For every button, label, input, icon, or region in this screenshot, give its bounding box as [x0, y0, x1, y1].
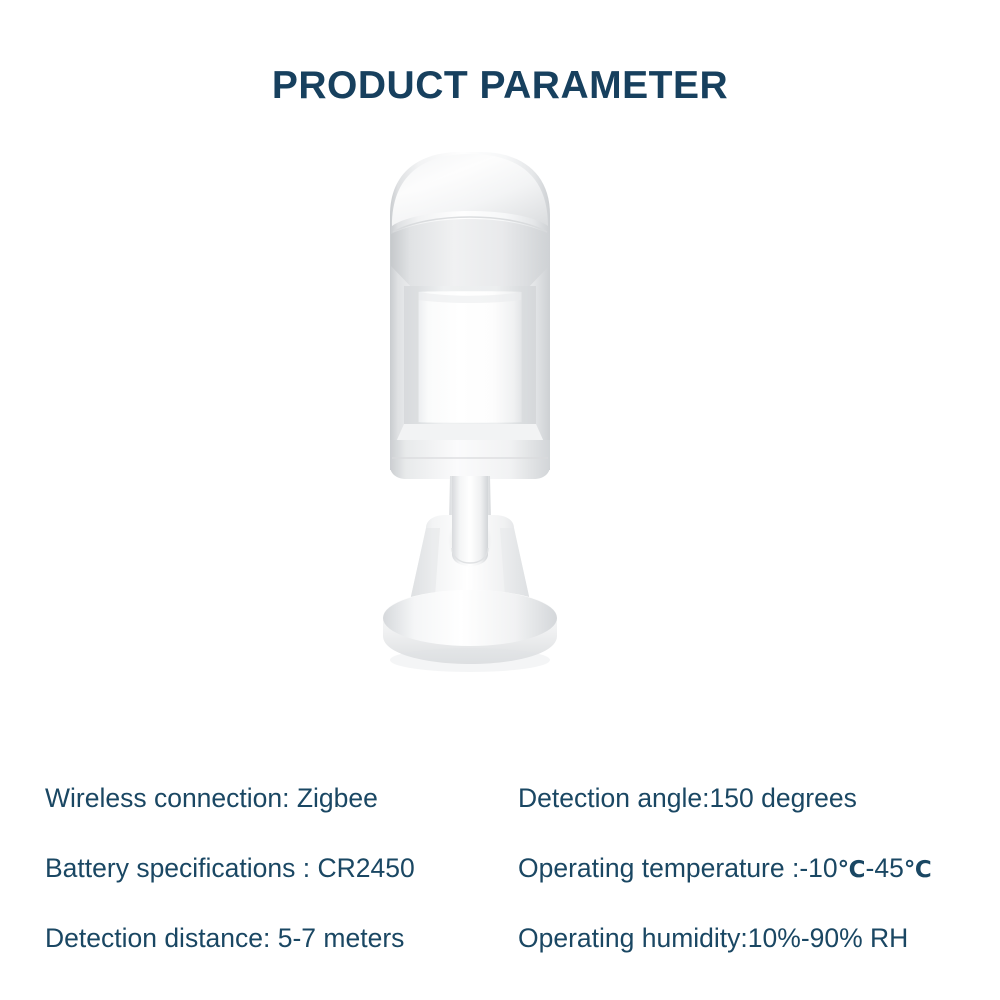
spec-row: Wireless connection: Zigbee Detection an… [0, 778, 1000, 828]
spec-wireless-connection: Wireless connection: Zigbee [45, 778, 378, 818]
sensor-lens-right-shadow [521, 286, 536, 428]
sensor-lower-collar [390, 440, 550, 479]
spec-row: Detection distance: 5-7 meters Operating… [0, 918, 1000, 968]
product-image-pir-motion-sensor [330, 140, 670, 710]
spec-detection-distance: Detection distance: 5-7 meters [45, 918, 404, 958]
sensor-lens-ledge [396, 424, 544, 442]
spec-operating-temperature: Operating temperature :-10℃-45℃ [518, 848, 932, 890]
product-parameter-page: PRODUCT PARAMETER [0, 0, 1000, 1000]
spec-detection-angle: Detection angle:150 degrees [518, 778, 857, 818]
spec-battery-specifications: Battery specifications : CR2450 [45, 848, 415, 888]
spec-operating-temperature-middle: -45 [866, 853, 904, 883]
celsius-unit-icon: ℃ [838, 857, 866, 883]
spec-operating-temperature-prefix: Operating temperature :-10 [518, 853, 838, 883]
celsius-unit-icon: ℃ [904, 857, 932, 883]
sensor-base-top [383, 590, 557, 646]
sensor-fresnel-lens [418, 291, 522, 423]
sensor-stem-front [452, 476, 488, 566]
spec-operating-humidity: Operating humidity:10%-90% RH [518, 918, 908, 958]
spec-list: Wireless connection: Zigbee Detection an… [0, 770, 1000, 970]
sensor-lens-left-shadow [404, 286, 419, 428]
page-title: PRODUCT PARAMETER [0, 64, 1000, 108]
sensor-base-shadow [390, 648, 550, 672]
sensor-bevel-band [391, 219, 549, 290]
spec-row: Battery specifications : CR2450 Operatin… [0, 848, 1000, 898]
